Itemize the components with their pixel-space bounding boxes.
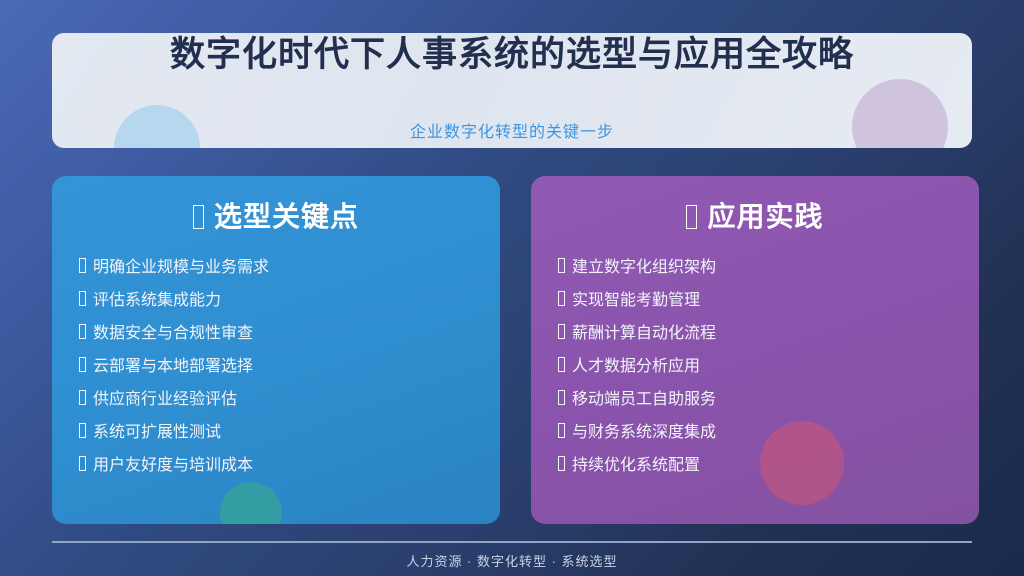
slide-canvas: 数字化时代下人事系统的选型与应用全攻略 企业数字化转型的关键一步 选型关键点 明… <box>0 0 1024 576</box>
bullet-missing-glyph-icon <box>558 357 565 372</box>
list-item: 移动端员工自助服务 <box>558 389 955 408</box>
card-selection-title: 选型关键点 <box>52 195 500 235</box>
list-item: 与财务系统深度集成 <box>558 422 955 441</box>
bullet-missing-glyph-icon <box>558 390 565 405</box>
list-item: 实现智能考勤管理 <box>558 290 955 309</box>
footer-caption: 人力资源 · 数字化转型 · 系统选型 <box>0 551 1024 570</box>
bullet-missing-glyph-icon <box>558 456 565 471</box>
list-item-label: 用户友好度与培训成本 <box>93 458 253 474</box>
bullet-missing-glyph-icon <box>558 291 565 306</box>
bullet-missing-glyph-icon <box>558 324 565 339</box>
bullet-missing-glyph-icon <box>79 390 86 405</box>
card-application-practice: 应用实践 建立数字化组织架构 实现智能考勤管理 薪酬计算自动化流程 人才数据分析… <box>531 176 979 524</box>
bullet-missing-glyph-icon <box>79 258 86 273</box>
list-item: 评估系统集成能力 <box>79 290 476 309</box>
card-practice-list: 建立数字化组织架构 实现智能考勤管理 薪酬计算自动化流程 人才数据分析应用 移动… <box>531 257 979 474</box>
card-practice-title-text: 应用实践 <box>707 201 823 232</box>
list-item-label: 评估系统集成能力 <box>93 293 221 309</box>
list-item: 明确企业规模与业务需求 <box>79 257 476 276</box>
list-item-label: 数据安全与合规性审查 <box>93 326 253 342</box>
bullet-missing-glyph-icon <box>79 456 86 471</box>
card-selection-list: 明确企业规模与业务需求 评估系统集成能力 数据安全与合规性审查 云部署与本地部署… <box>52 257 500 474</box>
missing-glyph-icon <box>686 205 697 229</box>
bullet-missing-glyph-icon <box>79 291 86 306</box>
list-item-label: 系统可扩展性测试 <box>93 425 221 441</box>
list-item-label: 人才数据分析应用 <box>572 359 700 375</box>
list-item-label: 实现智能考勤管理 <box>572 293 700 309</box>
footer-divider <box>52 541 972 543</box>
card-practice-title: 应用实践 <box>531 195 979 235</box>
bullet-missing-glyph-icon <box>558 423 565 438</box>
bullet-missing-glyph-icon <box>79 357 86 372</box>
list-item: 人才数据分析应用 <box>558 356 955 375</box>
list-item: 建立数字化组织架构 <box>558 257 955 276</box>
card-selection-title-text: 选型关键点 <box>214 201 359 232</box>
bullet-missing-glyph-icon <box>79 324 86 339</box>
card-selection-key-points: 选型关键点 明确企业规模与业务需求 评估系统集成能力 数据安全与合规性审查 云部… <box>52 176 500 524</box>
bullet-missing-glyph-icon <box>79 423 86 438</box>
list-item: 薪酬计算自动化流程 <box>558 323 955 342</box>
list-item-label: 持续优化系统配置 <box>572 458 700 474</box>
page-title: 数字化时代下人事系统的选型与应用全攻略 <box>0 26 1024 77</box>
list-item-label: 与财务系统深度集成 <box>572 425 716 441</box>
list-item: 数据安全与合规性审查 <box>79 323 476 342</box>
list-item-label: 移动端员工自助服务 <box>572 392 716 408</box>
list-item-label: 薪酬计算自动化流程 <box>572 326 716 342</box>
missing-glyph-icon <box>193 205 204 229</box>
list-item-label: 明确企业规模与业务需求 <box>93 260 269 276</box>
list-item: 供应商行业经验评估 <box>79 389 476 408</box>
list-item-label: 建立数字化组织架构 <box>572 260 716 276</box>
list-item: 持续优化系统配置 <box>558 455 955 474</box>
list-item: 用户友好度与培训成本 <box>79 455 476 474</box>
page-subtitle: 企业数字化转型的关键一步 <box>0 118 1024 142</box>
bullet-missing-glyph-icon <box>558 258 565 273</box>
list-item: 系统可扩展性测试 <box>79 422 476 441</box>
list-item-label: 云部署与本地部署选择 <box>93 359 253 375</box>
list-item: 云部署与本地部署选择 <box>79 356 476 375</box>
list-item-label: 供应商行业经验评估 <box>93 392 237 408</box>
decorative-circle-teal <box>220 482 282 524</box>
